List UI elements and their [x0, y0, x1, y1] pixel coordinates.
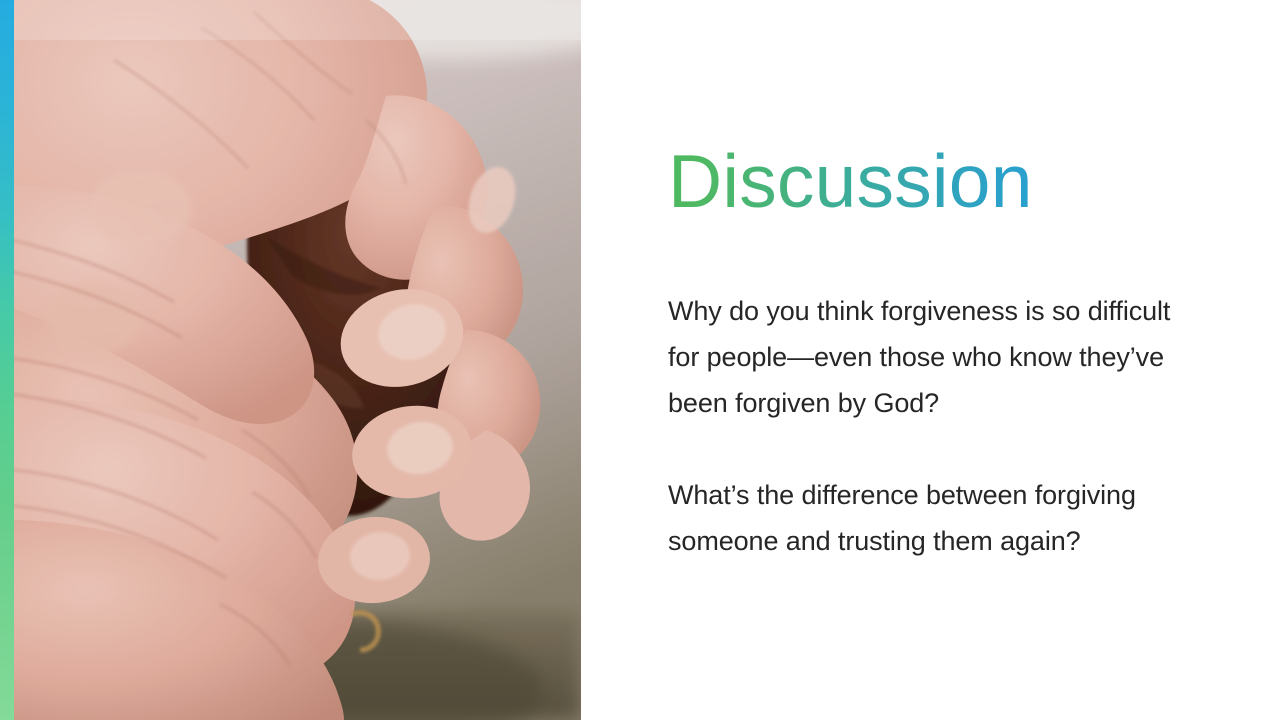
- slide-photo: [14, 0, 581, 720]
- slide-title: Discussion: [668, 138, 1033, 224]
- hands-holding-stone-image: [14, 0, 581, 720]
- left-gradient-accent-bar: [0, 0, 14, 720]
- slide-content-column: Discussion Why do you think forgiveness …: [668, 0, 1228, 720]
- slide-body: Why do you think forgiveness is so diffi…: [668, 288, 1208, 564]
- discussion-question-2: What’s the difference between forgiving …: [668, 472, 1208, 564]
- presentation-slide: Discussion Why do you think forgiveness …: [0, 0, 1280, 720]
- discussion-question-1: Why do you think forgiveness is so diffi…: [668, 288, 1208, 426]
